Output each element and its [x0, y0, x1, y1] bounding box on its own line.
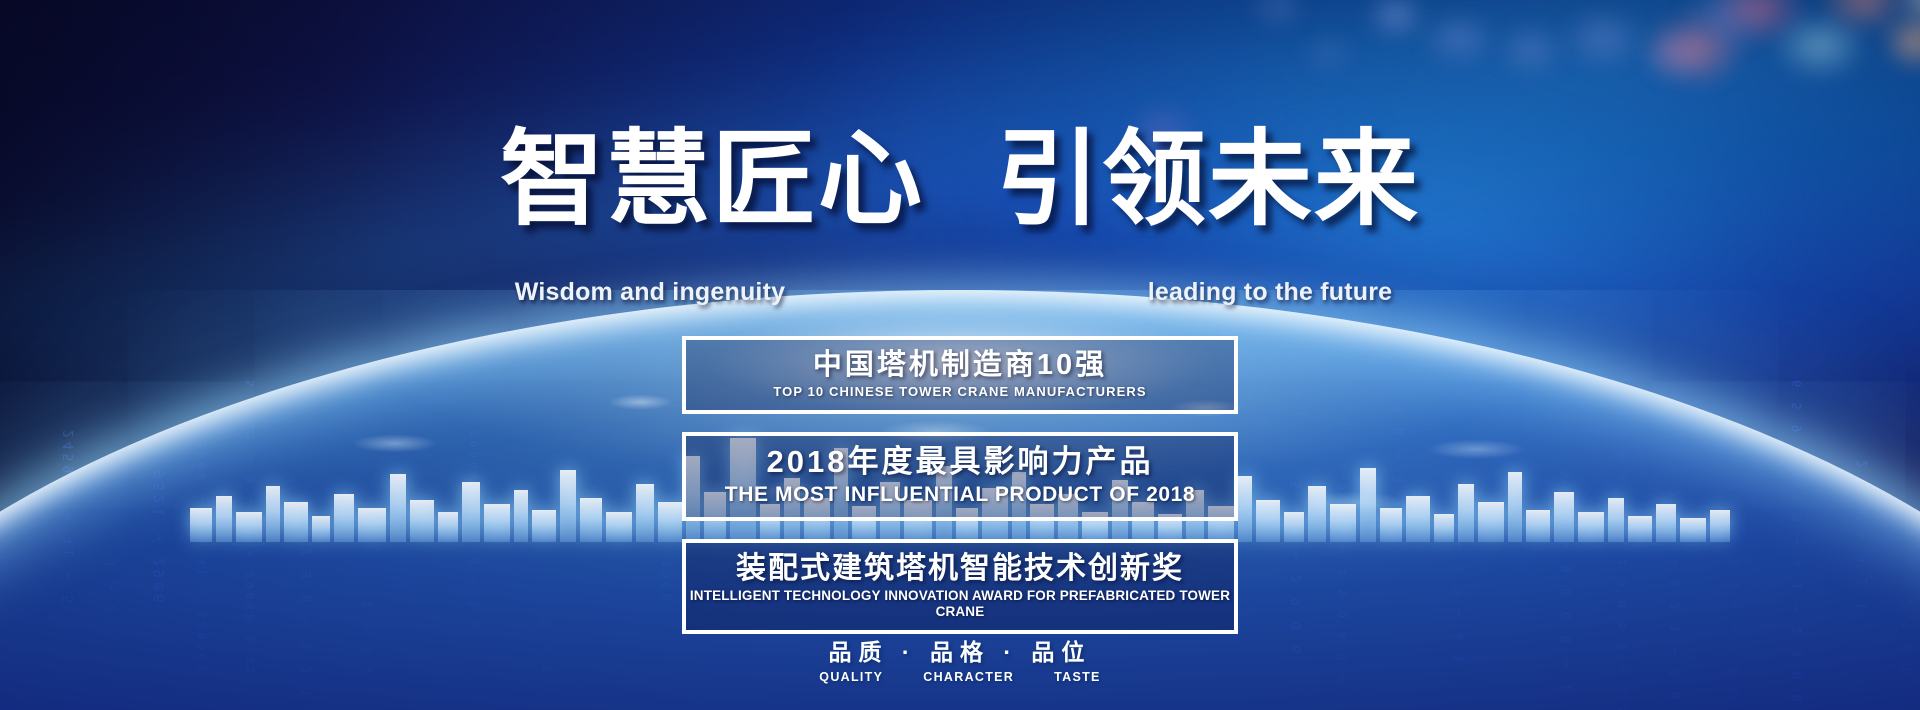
subtitle-left: Wisdom and ingenuity	[340, 278, 960, 307]
slogan-en-quality: QUALITY	[819, 670, 883, 684]
award-box-innovation: 装配式建筑塔机智能技术创新奖 INTELLIGENT TECHNOLOGY IN…	[682, 539, 1238, 634]
award-box-influential-product: 2018年度最具影响力产品 THE MOST INFLUENTIAL PRODU…	[682, 432, 1238, 521]
slogan-en-taste: TASTE	[1054, 670, 1101, 684]
promo-banner: 2459 3 ¬ 41 ¬ 51 ¬ 29521 ¬ 29061 2906 ¬ …	[0, 0, 1920, 710]
award-title-en: TOP 10 CHINESE TOWER CRANE MANUFACTURERS	[686, 384, 1234, 400]
banner-content: 智慧匠心引领未来 Wisdom and ingenuity leading to…	[0, 0, 1920, 710]
subtitle-right: leading to the future	[960, 278, 1580, 307]
award-list: 中国塔机制造商10强 TOP 10 CHINESE TOWER CRANE MA…	[682, 336, 1238, 634]
award-title-cn: 装配式建筑塔机智能技术创新奖	[686, 552, 1234, 586]
award-title-en: THE MOST INFLUENTIAL PRODUCT OF 2018	[686, 482, 1234, 507]
subtitle-row: Wisdom and ingenuity leading to the futu…	[0, 278, 1920, 307]
headline-left: 智慧匠心	[500, 122, 924, 238]
headline-right: 引领未来	[996, 122, 1420, 238]
slogan: 品质 · 品格 · 品位 QUALITY CHARACTER TASTE	[700, 640, 1220, 684]
award-box-top-10: 中国塔机制造商10强 TOP 10 CHINESE TOWER CRANE MA…	[682, 336, 1238, 414]
award-title-cn: 中国塔机制造商10强	[686, 349, 1234, 381]
award-title-en: INTELLIGENT TECHNOLOGY INNOVATION AWARD …	[686, 588, 1234, 620]
page-title: 智慧匠心引领未来	[0, 128, 1920, 232]
award-title-cn: 2018年度最具影响力产品	[686, 445, 1234, 480]
slogan-en-character: CHARACTER	[923, 670, 1014, 684]
slogan-en: QUALITY CHARACTER TASTE	[700, 670, 1220, 684]
slogan-cn: 品质 · 品格 · 品位	[700, 640, 1220, 665]
